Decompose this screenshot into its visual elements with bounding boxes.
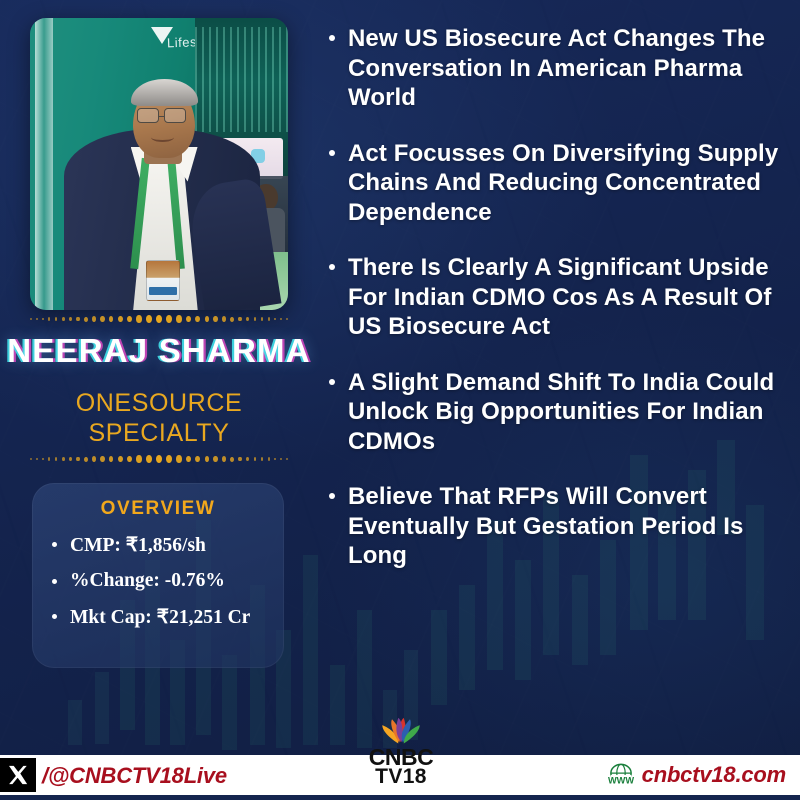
- website-url-text[interactable]: cnbctv18.com: [642, 762, 786, 788]
- divider-dot: [48, 457, 50, 460]
- divider-dot: [136, 315, 142, 322]
- divider-dot: [42, 458, 44, 461]
- divider-dot: [118, 456, 123, 463]
- divider-dot: [156, 315, 162, 323]
- divider-dot: [166, 455, 172, 463]
- divider-dot: [55, 457, 58, 461]
- divider-dot: [238, 457, 242, 462]
- divider-dot: [205, 316, 210, 322]
- guest-company: ONESOURCE SPECIALTY: [0, 388, 318, 448]
- divider-dot: [286, 458, 288, 460]
- divider-dot: [268, 317, 270, 320]
- divider-dot: [92, 316, 96, 321]
- divider-dot: [55, 317, 58, 321]
- divider-dot: [186, 316, 191, 323]
- divider-dot: [280, 458, 282, 460]
- guest-company-line-1: ONESOURCE: [0, 388, 318, 418]
- cnbc-wordmark: CNBC: [354, 747, 448, 767]
- headline-bullet-item: New US Biosecure Act Changes The Convers…: [322, 24, 792, 113]
- guest-photo-image: Lifesciences Source: [30, 18, 288, 310]
- dotted-divider-top: [28, 312, 290, 326]
- divider-dot: [274, 318, 276, 321]
- divider-dot: [84, 317, 88, 322]
- divider-dot: [109, 456, 114, 462]
- divider-dot: [69, 317, 72, 321]
- divider-dot: [36, 318, 38, 320]
- headline-bullet-item: A Slight Demand Shift To India Could Unl…: [322, 368, 792, 457]
- guest-glasses-bridge: [159, 116, 165, 117]
- footer-accent-line: [0, 795, 800, 800]
- x-handle-text[interactable]: /@CNBCTV18Live: [42, 763, 227, 789]
- divider-dot: [156, 455, 162, 463]
- cnbc-tv18-logo: CNBC TV18: [354, 712, 448, 787]
- overview-stat-item: CMP: ₹1,856/sh: [50, 533, 284, 557]
- headline-bullet-list: New US Biosecure Act Changes The Convers…: [322, 24, 792, 597]
- divider-dot: [254, 457, 257, 461]
- divider-dot: [238, 317, 242, 322]
- divider-dot: [36, 458, 38, 460]
- headline-bullet-item: Act Focusses On Diversifying Supply Chai…: [322, 139, 792, 228]
- divider-dot: [213, 316, 217, 322]
- guest-glasses-left-lens: [137, 108, 159, 123]
- divider-dot: [100, 456, 104, 462]
- overview-card: OVERVIEW CMP: ₹1,856/sh%Change: -0.76%Mk…: [32, 483, 284, 668]
- guest-company-line-2: SPECIALTY: [0, 418, 318, 448]
- divider-dot: [268, 457, 270, 460]
- divider-dot: [166, 315, 172, 323]
- tv18-wordmark: TV18: [354, 767, 448, 787]
- divider-dot: [261, 317, 264, 321]
- broadcast-graphic-card: Lifesciences Source: [0, 0, 800, 800]
- divider-dot: [280, 318, 282, 320]
- divider-dot: [62, 317, 65, 321]
- divider-dot: [62, 457, 65, 461]
- divider-dot: [146, 455, 152, 463]
- overview-stat-item: Mkt Cap: ₹21,251 Cr: [50, 605, 284, 629]
- divider-dot: [146, 315, 152, 323]
- divider-dot: [254, 317, 257, 321]
- headline-bullet-item: There Is Clearly A Significant Upside Fo…: [322, 253, 792, 342]
- divider-dot: [76, 457, 80, 462]
- svg-text:WWW: WWW: [608, 775, 634, 785]
- divider-dot: [274, 458, 276, 461]
- divider-dot: [118, 316, 123, 323]
- divider-dot: [186, 456, 191, 463]
- guest-name: NEERAJ SHARMA: [0, 332, 318, 370]
- divider-dot: [42, 318, 44, 321]
- guest-photo: Lifesciences Source: [30, 18, 288, 310]
- guest-badge: [146, 260, 180, 301]
- divider-dot: [30, 318, 32, 320]
- divider-dot: [136, 455, 142, 462]
- guest-panel: Lifesciences Source: [0, 0, 318, 755]
- website-link[interactable]: WWW cnbctv18.com: [608, 762, 786, 788]
- headline-bullet-item: Believe That RFPs Will Convert Eventuall…: [322, 482, 792, 571]
- divider-dot: [127, 316, 132, 323]
- overview-stat-list: CMP: ₹1,856/sh%Change: -0.76%Mkt Cap: ₹2…: [50, 533, 284, 629]
- divider-dot: [48, 317, 50, 320]
- divider-dot: [76, 317, 80, 322]
- guest-glasses-right-lens: [164, 108, 186, 123]
- x-logo-icon[interactable]: [0, 758, 36, 792]
- divider-dot: [246, 457, 249, 461]
- divider-dot: [230, 457, 234, 462]
- divider-dot: [213, 456, 217, 462]
- overview-stat-item: %Change: -0.76%: [50, 570, 284, 592]
- divider-dot: [205, 456, 210, 462]
- divider-dot: [100, 316, 104, 322]
- divider-dot: [69, 457, 72, 461]
- divider-dot: [127, 456, 132, 463]
- divider-dot: [30, 458, 32, 460]
- divider-dot: [222, 316, 226, 321]
- divider-dot: [176, 315, 182, 322]
- guest-badge-strip: [149, 287, 177, 296]
- divider-dot: [195, 316, 200, 323]
- dotted-divider-bottom: [28, 452, 290, 466]
- overview-title: OVERVIEW: [32, 498, 284, 520]
- backdrop-light-slats: [195, 27, 288, 132]
- nbc-peacock-icon: [370, 712, 432, 746]
- divider-dot: [195, 456, 200, 463]
- divider-dot: [84, 457, 88, 462]
- divider-dot: [109, 316, 114, 322]
- www-globe-icon: WWW: [608, 763, 634, 787]
- divider-dot: [230, 317, 234, 322]
- divider-dot: [176, 455, 182, 462]
- divider-dot: [246, 317, 249, 321]
- divider-dot: [92, 456, 96, 461]
- backdrop-wall-edge: [35, 18, 53, 310]
- divider-dot: [222, 456, 226, 461]
- divider-dot: [261, 457, 264, 461]
- divider-dot: [286, 318, 288, 320]
